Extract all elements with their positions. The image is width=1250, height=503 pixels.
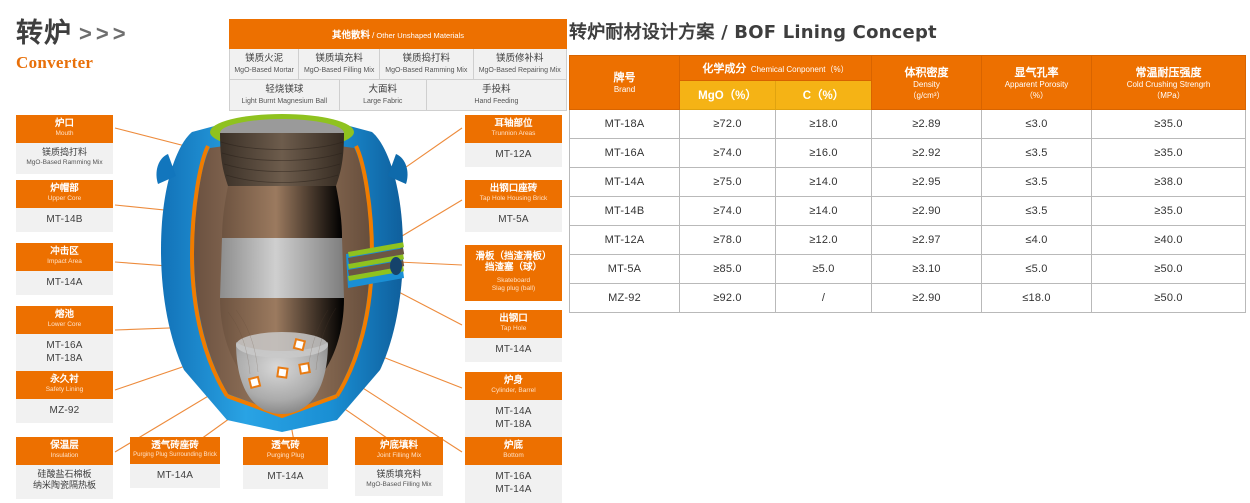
cell-density: ≥2.90	[872, 284, 982, 313]
chip-body: MT-14B	[16, 208, 113, 233]
chip-title-cn: 炉底	[467, 440, 560, 451]
cell-ccs: ≥50.0	[1092, 255, 1246, 284]
col-header-ccs-en: Cold Crushing Strengrh	[1094, 80, 1243, 90]
cell-c: ≥14.0	[776, 168, 872, 197]
col-header-c-label: C（%）	[803, 90, 845, 102]
col-header-chem-cn: 化学成分	[702, 62, 746, 75]
cell-cn: 镁质捣打料	[382, 53, 470, 65]
chip-body: MT-14A	[465, 338, 562, 363]
brand-title-cn: 转炉	[16, 20, 72, 47]
chip-body: MT-12A	[465, 143, 562, 168]
col-header-chemical: 化学成分 Chemical Conponent（%）	[680, 56, 872, 81]
cell-cn: 镁质填充料	[301, 53, 377, 65]
chip-body: MT-16A MT-14A	[465, 465, 562, 503]
chip-value: MT-16A	[467, 470, 560, 484]
chip-title-en: Tap Hole Housing Brick	[467, 195, 560, 203]
brand-arrows-icon: >>>	[79, 21, 130, 47]
chip-joint-filling-mix[interactable]: 炉底填料 Joint Filling Mix 镁质填充料 MgO-Based F…	[355, 437, 443, 496]
cell-density: ≥2.90	[872, 197, 982, 226]
cell-porosity: ≤3.5	[982, 197, 1092, 226]
chip-body: 镁质捣打料 MgO-Based Ramming Mix	[16, 143, 113, 174]
cell-en: MgO-Based Repairing Mix	[476, 66, 565, 75]
chip-title-cn: 出钢口	[467, 313, 560, 324]
cell-c: ≥16.0	[776, 139, 872, 168]
cell-mgo: ≥75.0	[680, 168, 776, 197]
chip-title-cn: 保温层	[18, 440, 111, 451]
table-row: MT-5A≥85.0≥5.0≥3.10≤5.0≥50.0	[570, 255, 1246, 284]
cell-ccs: ≥38.0	[1092, 168, 1246, 197]
chip-value: MT-14A	[132, 469, 218, 483]
chip-header: 耳轴部位 Trunnion Areas	[465, 115, 562, 143]
chip-value: MT-18A	[467, 418, 560, 432]
chip-value: MT-14A	[467, 405, 560, 419]
chip-body-cn: 镁质填充料	[357, 470, 441, 482]
chip-title-en: Purging Plug Surrounding Brick	[132, 452, 218, 460]
col-header-density: 体积密度 Density （g/cm³）	[872, 56, 982, 110]
cell-mgo: ≥92.0	[680, 284, 776, 313]
chip-header: 炉帽部 Upper Core	[16, 180, 113, 208]
cell-c: ≥12.0	[776, 226, 872, 255]
chip-title-cn: 永久衬	[18, 374, 111, 385]
chip-cylinder-barrel[interactable]: 炉身 Cylinder, Barrel MT-14A MT-18A	[465, 372, 562, 438]
col-header-porosity-cn: 显气孔率	[984, 64, 1089, 80]
cell-density: ≥2.89	[872, 110, 982, 139]
cell-density: ≥2.95	[872, 168, 982, 197]
cell-brand: MT-12A	[570, 226, 680, 255]
chip-impact-area[interactable]: 冲击区 Impact Area MT-14A	[16, 243, 113, 295]
cell-ccs: ≥40.0	[1092, 226, 1246, 255]
chip-mouth[interactable]: 炉口 Mouth 镁质捣打料 MgO-Based Ramming Mix	[16, 115, 113, 174]
chip-tap-hole[interactable]: 出钢口 Tap Hole MT-14A	[465, 310, 562, 362]
chip-title-cn: 透气砖	[245, 440, 326, 451]
cell-mgo: ≥85.0	[680, 255, 776, 284]
chip-insulation[interactable]: 保温层 Insulation 硅酸盐石棉板 纳米陶瓷隔热板	[16, 437, 113, 499]
bath-rim	[236, 332, 328, 358]
cell-en: MgO-Based Mortar	[232, 66, 296, 75]
chip-title-en: Upper Core	[18, 195, 111, 203]
chip-header: 炉口 Mouth	[16, 115, 113, 143]
chip-header: 熔池 Lower Core	[16, 306, 113, 334]
chip-title-en: Purging Plug	[245, 452, 326, 460]
upper-core-zone	[222, 186, 342, 238]
chip-title-cn: 出钢口座砖	[467, 183, 560, 194]
chip-value: MT-14A	[467, 343, 560, 357]
chip-header: 透气砖座砖 Purging Plug Surrounding Brick	[130, 437, 220, 464]
cell-brand: MT-5A	[570, 255, 680, 284]
chip-body: MZ-92	[16, 399, 113, 424]
chip-body: MT-5A	[465, 208, 562, 233]
impact-area-zone	[220, 238, 344, 298]
chip-value: MT-16A	[18, 339, 111, 353]
cell-ccs: ≥35.0	[1092, 110, 1246, 139]
chip-header: 出钢口 Tap Hole	[465, 310, 562, 338]
chip-header: 炉底 Bottom	[465, 437, 562, 465]
chip-purging-plug-surrounding-brick[interactable]: 透气砖座砖 Purging Plug Surrounding Brick MT-…	[130, 437, 220, 488]
chip-upper-core[interactable]: 炉帽部 Upper Core MT-14B	[16, 180, 113, 232]
col-header-ccs-unit: （MPa）	[1094, 91, 1243, 101]
table-row: MT-12A≥78.0≥12.0≥2.97≤4.0≥40.0	[570, 226, 1246, 255]
chip-tap-hole-housing-brick[interactable]: 出钢口座砖 Tap Hole Housing Brick MT-5A	[465, 180, 562, 232]
cell-brand: MT-16A	[570, 139, 680, 168]
chip-title-cn: 炉底填料	[357, 440, 441, 451]
chip-title-cn: 炉帽部	[18, 183, 111, 194]
chip-title-en: Bottom	[467, 452, 560, 460]
chip-body: MT-14A	[243, 465, 328, 490]
chip-lower-core[interactable]: 熔池 Lower Core MT-16A MT-18A	[16, 306, 113, 372]
cell-c: ≥14.0	[776, 197, 872, 226]
table-row: MT-18A≥72.0≥18.0≥2.89≤3.0≥35.0	[570, 110, 1246, 139]
chip-title-en: Tap Hole	[467, 325, 560, 333]
cell-brand: MT-18A	[570, 110, 680, 139]
cell-brand: MT-14A	[570, 168, 680, 197]
purging-plug-icon	[277, 367, 287, 377]
chip-body: MT-14A	[130, 464, 220, 489]
purging-plug-icon	[294, 339, 305, 350]
chip-title-cn: 炉身	[467, 375, 560, 386]
chip-body-cn: 镁质捣打料	[18, 148, 111, 160]
chip-title-cn: 透气砖座砖	[132, 440, 218, 451]
chip-body: MT-16A MT-18A	[16, 334, 113, 372]
cell-density: ≥2.97	[872, 226, 982, 255]
cell-ccs: ≥35.0	[1092, 139, 1246, 168]
unshaped-materials-table: 其他散料/Other Unshaped Materials 镁质火泥 MgO-B…	[229, 19, 567, 111]
chip-header: 永久衬 Safety Lining	[16, 371, 113, 399]
cell-c: /	[776, 284, 872, 313]
chip-body: MT-14A	[16, 271, 113, 296]
cell-cn: 镁质火泥	[232, 53, 296, 65]
table-row: MZ-92≥92.0/≥2.90≤18.0≥50.0	[570, 284, 1246, 313]
unshaped-cell-hand-feeding: 手投料 Hand Feeding	[426, 79, 566, 110]
cell-cn: 大面料	[342, 84, 424, 96]
chip-value: MZ-92	[18, 404, 111, 418]
col-header-brand: 牌号 Brand	[570, 56, 680, 110]
right-spec-panel: 转炉耐材设计方案 / BOF Lining Concept 牌号 Brand 化…	[565, 0, 1250, 500]
chip-value: MT-14A	[467, 483, 560, 497]
col-header-brand-en: Brand	[572, 85, 677, 95]
table-row: MT-14B≥74.0≥14.0≥2.90≤3.5≥35.0	[570, 197, 1246, 226]
col-header-density-unit: （g/cm³）	[874, 91, 979, 101]
cell-mgo: ≥72.0	[680, 110, 776, 139]
spec-table-body: MT-18A≥72.0≥18.0≥2.89≤3.0≥35.0MT-16A≥74.…	[570, 110, 1246, 313]
cell-cn: 手投料	[429, 84, 564, 96]
cell-ccs: ≥35.0	[1092, 197, 1246, 226]
cell-porosity: ≤4.0	[982, 226, 1092, 255]
cell-mgo: ≥74.0	[680, 197, 776, 226]
chip-value: MT-18A	[18, 352, 111, 366]
chip-title-en: Safety Lining	[18, 386, 111, 394]
col-header-c: C（%）	[776, 81, 872, 110]
chip-title-en: Trunnion Areas	[467, 130, 560, 138]
cell-brand: MZ-92	[570, 284, 680, 313]
cell-porosity: ≤3.5	[982, 168, 1092, 197]
unshaped-header-en: Other Unshaped Materials	[376, 31, 464, 40]
chip-skateboard-slag-plug[interactable]: 滑板（挡渣滑板） 挡渣塞（球） Skateboard Slag plug (ba…	[465, 245, 562, 301]
col-header-porosity: 显气孔率 Apparent Porosity （%）	[982, 56, 1092, 110]
chip-title-en: Impact Area	[18, 258, 111, 266]
table-row: MT-16A≥74.0≥16.0≥2.92≤3.5≥35.0	[570, 139, 1246, 168]
chip-purging-plug[interactable]: 透气砖 Purging Plug MT-14A	[243, 437, 328, 489]
cell-en: MgO-Based Ramming Mix	[382, 66, 470, 75]
chip-trunnion-areas[interactable]: 耳轴部位 Trunnion Areas MT-12A	[465, 115, 562, 167]
chip-value: MT-14A	[18, 276, 111, 290]
col-header-chem-en: Chemical Conponent（%）	[751, 65, 849, 74]
chip-header: 透气砖 Purging Plug	[243, 437, 328, 465]
chip-header: 炉底填料 Joint Filling Mix	[355, 437, 443, 465]
chip-title-cn: 炉口	[18, 118, 111, 129]
table-row: MT-14A≥75.0≥14.0≥2.95≤3.5≥38.0	[570, 168, 1246, 197]
col-header-porosity-en: Apparent Porosity	[984, 80, 1089, 90]
cell-porosity: ≤18.0	[982, 284, 1092, 313]
chip-header: 滑板（挡渣滑板） 挡渣塞（球） Skateboard Slag plug (ba…	[465, 245, 562, 301]
chip-value: MT-14B	[18, 213, 111, 227]
cell-c: ≥5.0	[776, 255, 872, 284]
unshaped-header-cn: 其他散料	[332, 30, 370, 41]
chip-title-en: Skateboard Slag plug (ball)	[467, 277, 560, 293]
cell-mgo: ≥74.0	[680, 139, 776, 168]
cell-cn: 镁质修补料	[476, 53, 565, 65]
chip-title-en: Lower Core	[18, 321, 111, 329]
col-header-mgo: MgO（%）	[680, 81, 776, 110]
cell-c: ≥18.0	[776, 110, 872, 139]
lining-spec-table: 牌号 Brand 化学成分 Chemical Conponent（%） 体积密度…	[569, 55, 1246, 313]
col-header-ccs-cn: 常温耐压强度	[1094, 64, 1243, 80]
chip-title-en: Joint Filling Mix	[357, 452, 441, 460]
chip-title-en: Mouth	[18, 130, 111, 138]
cell-mgo: ≥78.0	[680, 226, 776, 255]
cell-cn: 轻烧镁球	[232, 84, 337, 96]
chip-title-en: Insulation	[18, 452, 111, 460]
chip-title-cn: 耳轴部位	[467, 118, 560, 129]
chip-header: 出钢口座砖 Tap Hole Housing Brick	[465, 180, 562, 208]
chip-bottom[interactable]: 炉底 Bottom MT-16A MT-14A	[465, 437, 562, 503]
cell-brand: MT-14B	[570, 197, 680, 226]
cell-density: ≥2.92	[872, 139, 982, 168]
unshaped-cell-ramming: 镁质捣打料 MgO-Based Ramming Mix	[380, 49, 473, 80]
page-title: 转炉耐材设计方案 / BOF Lining Concept	[569, 18, 937, 44]
chip-title-cn: 熔池	[18, 309, 111, 320]
chip-body-en: MgO-Based Filling Mix	[357, 481, 441, 489]
cell-en: MgO-Based Filling Mix	[301, 66, 377, 75]
unshaped-cell-mortar: 镁质火泥 MgO-Based Mortar	[230, 49, 299, 80]
chip-title-cn: 滑板（挡渣滑板） 挡渣塞（球）	[467, 251, 560, 274]
chip-header: 炉身 Cylinder, Barrel	[465, 372, 562, 400]
cell-porosity: ≤3.5	[982, 139, 1092, 168]
chip-title-cn: 冲击区	[18, 246, 111, 257]
brand-title-en: Converter	[16, 53, 130, 73]
col-header-brand-cn: 牌号	[572, 69, 677, 85]
col-header-ccs: 常温耐压强度 Cold Crushing Strengrh （MPa）	[1092, 56, 1246, 110]
cell-porosity: ≤5.0	[982, 255, 1092, 284]
chip-title-en: Cylinder, Barrel	[467, 387, 560, 395]
col-header-porosity-unit: （%）	[984, 91, 1089, 101]
col-header-density-en: Density	[874, 80, 979, 90]
chip-body-cn: 硅酸盐石棉板 纳米陶瓷隔热板	[18, 470, 111, 493]
left-diagram-panel: 转炉>>> Converter 其他散料/Other Unshaped Mate…	[0, 0, 565, 500]
unshaped-cell-repairing: 镁质修补料 MgO-Based Repairing Mix	[473, 49, 567, 80]
chip-body: 镁质填充料 MgO-Based Filling Mix	[355, 465, 443, 496]
cell-ccs: ≥50.0	[1092, 284, 1246, 313]
chip-header: 保温层 Insulation	[16, 437, 113, 465]
table-row: 其他散料/Other Unshaped Materials	[230, 20, 567, 49]
cell-porosity: ≤3.0	[982, 110, 1092, 139]
cell-density: ≥3.10	[872, 255, 982, 284]
brand-title: 转炉>>> Converter	[16, 20, 130, 73]
chip-value: MT-12A	[467, 148, 560, 162]
chip-body: MT-14A MT-18A	[465, 400, 562, 438]
unshaped-cell-filling: 镁质填充料 MgO-Based Filling Mix	[299, 49, 380, 80]
table-row: 镁质火泥 MgO-Based Mortar 镁质填充料 MgO-Based Fi…	[230, 49, 567, 80]
converter-infographic: 转炉>>> Converter 其他散料/Other Unshaped Mate…	[0, 0, 1250, 500]
unshaped-header-cell: 其他散料/Other Unshaped Materials	[230, 20, 567, 49]
bof-furnace-cutaway-illustration	[132, 102, 432, 442]
chip-header: 冲击区 Impact Area	[16, 243, 113, 271]
chip-value: MT-5A	[467, 213, 560, 227]
col-header-density-cn: 体积密度	[874, 64, 979, 80]
chip-body-en: MgO-Based Ramming Mix	[18, 159, 111, 167]
chip-safety-lining[interactable]: 永久衬 Safety Lining MZ-92	[16, 371, 113, 423]
chip-value: MT-14A	[245, 470, 326, 484]
table-header-row: 牌号 Brand 化学成分 Chemical Conponent（%） 体积密度…	[570, 56, 1246, 81]
purging-plug-icon	[249, 377, 260, 388]
cell-en: Hand Feeding	[429, 97, 564, 106]
chip-body: 硅酸盐石棉板 纳米陶瓷隔热板	[16, 465, 113, 499]
col-header-mgo-label: MgO（%）	[698, 90, 757, 102]
